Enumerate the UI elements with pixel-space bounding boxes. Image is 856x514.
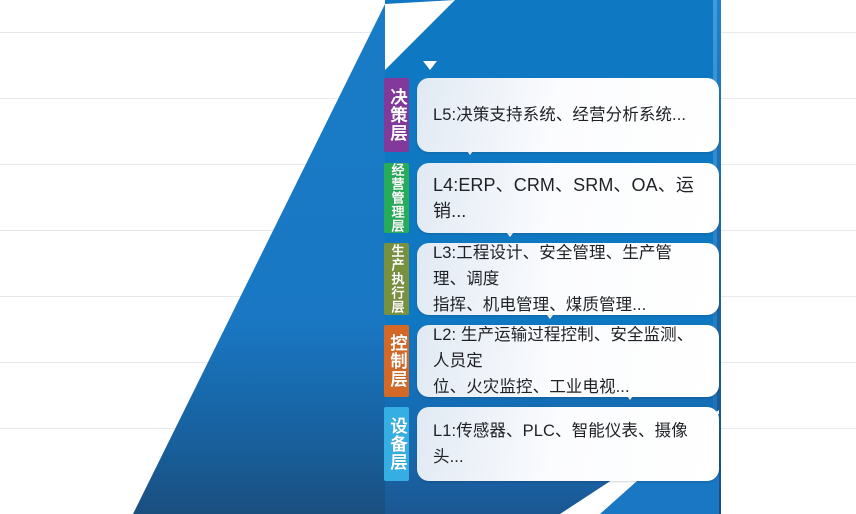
layer-box-l4[interactable]: L4:ERP、CRM、SRM、OA、运销...: [417, 163, 719, 233]
layer-box-l3[interactable]: L3:工程设计、安全管理、生产管理、调度 指挥、机电管理、煤质管理...: [417, 243, 719, 315]
layer-text-l4: L4:ERP、CRM、SRM、OA、运销...: [433, 172, 705, 224]
layer-box-l5[interactable]: L5:决策支持系统、经营分析系统...: [417, 78, 719, 152]
layer-box-l1[interactable]: L1:传感器、PLC、智能仪表、摄像头...: [417, 407, 719, 481]
layer-row-l3[interactable]: 生产执行层 L3:工程设计、安全管理、生产管理、调度 指挥、机电管理、煤质管理.…: [385, 243, 719, 315]
diagram-canvas: 决策层 L5:决策支持系统、经营分析系统... 经营管理层 L4:ERP、CRM…: [0, 0, 856, 514]
layer-row-l1[interactable]: 设备层 L1:传感器、PLC、智能仪表、摄像头...: [385, 407, 719, 481]
layer-row-l4[interactable]: 经营管理层 L4:ERP、CRM、SRM、OA、运销...: [385, 163, 719, 233]
layer-tag-l3: 生产执行层: [384, 243, 409, 315]
layer-row-l5[interactable]: 决策层 L5:决策支持系统、经营分析系统...: [385, 78, 719, 152]
layer-tag-l4: 经营管理层: [384, 163, 409, 233]
layer-text-l3: L3:工程设计、安全管理、生产管理、调度 指挥、机电管理、煤质管理...: [433, 240, 705, 318]
layer-text-l5: L5:决策支持系统、经营分析系统...: [433, 102, 686, 128]
layer-text-l1: L1:传感器、PLC、智能仪表、摄像头...: [433, 418, 705, 470]
layer-tag-l1: 设备层: [384, 407, 409, 481]
layer-box-l2[interactable]: L2: 生产运输过程控制、安全监测、人员定 位、火灾监控、工业电视...: [417, 325, 719, 397]
layer-tag-l2: 控制层: [384, 325, 409, 397]
flow-arrow-icon: [423, 61, 437, 70]
layer-row-l2[interactable]: 控制层 L2: 生产运输过程控制、安全监测、人员定 位、火灾监控、工业电视...: [385, 325, 719, 397]
layer-tag-l5: 决策层: [384, 78, 409, 152]
layer-rows: 决策层 L5:决策支持系统、经营分析系统... 经营管理层 L4:ERP、CRM…: [385, 0, 719, 514]
layer-text-l2: L2: 生产运输过程控制、安全监测、人员定 位、火灾监控、工业电视...: [433, 322, 705, 400]
